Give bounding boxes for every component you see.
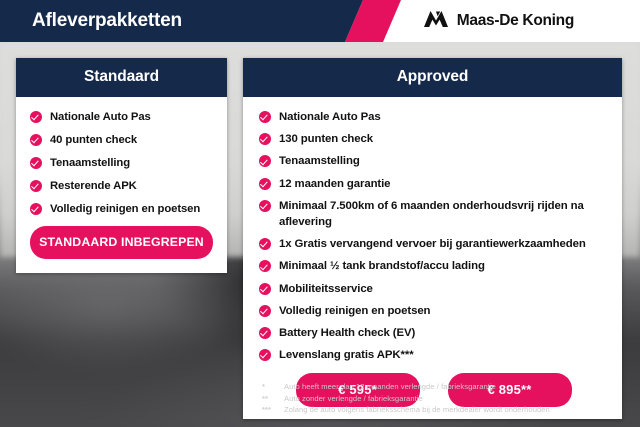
feature-label: 130 punten check xyxy=(279,131,608,147)
list-item: Tenaamstelling xyxy=(30,155,213,171)
feature-label: Minimaal ½ tank brandstof/accu lading xyxy=(279,258,608,274)
feature-label: Tenaamstelling xyxy=(279,153,608,169)
footnote-marker: * xyxy=(262,381,284,393)
feature-label: Mobiliteitsservice xyxy=(279,281,608,297)
check-circle-icon xyxy=(30,111,42,123)
check-circle-icon xyxy=(259,327,271,339)
list-item: Volledig reinigen en poetsen xyxy=(30,201,213,217)
check-circle-icon xyxy=(259,305,271,317)
check-circle-icon xyxy=(259,133,271,145)
brand-lockup: Maas-De Koning xyxy=(423,0,574,42)
list-item: 130 punten check xyxy=(259,131,608,147)
feature-label: Battery Health check (EV) xyxy=(279,325,608,341)
list-item: Minimaal 7.500km of 6 maanden onderhouds… xyxy=(259,198,608,230)
list-item: Nationale Auto Pas xyxy=(259,109,608,125)
standard-package-card: Standaard Nationale Auto Pas 40 punten c… xyxy=(16,58,227,273)
footnote-row: ** Auto zonder verlengde / fabrieksgaran… xyxy=(262,393,632,405)
list-item: Resterende APK xyxy=(30,178,213,194)
footnote-marker: ** xyxy=(262,393,284,405)
footnote-row: *** Zolang de auto volgens fabrieksschem… xyxy=(262,404,632,416)
footnote-text: Auto heeft meer dan 12 maanden verlengde… xyxy=(284,381,632,393)
feature-label: Resterende APK xyxy=(50,178,213,194)
standard-card-body: Nationale Auto Pas 40 punten check Tenaa… xyxy=(16,97,227,273)
footnote-text: Auto zonder verlengde / fabrieksgarantie xyxy=(284,393,632,405)
check-circle-icon xyxy=(30,157,42,169)
approved-card-body: Nationale Auto Pas 130 punten check Tena… xyxy=(243,97,622,419)
list-item: Volledig reinigen en poetsen xyxy=(259,303,608,319)
standard-card-heading: Standaard xyxy=(16,58,227,97)
feature-label: Levenslang gratis APK*** xyxy=(279,347,608,363)
check-circle-icon xyxy=(259,155,271,167)
footnotes-block: * Auto heeft meer dan 12 maanden verleng… xyxy=(262,381,632,416)
feature-label: Volledig reinigen en poetsen xyxy=(279,303,608,319)
page-title: Afleverpakketten xyxy=(32,0,182,42)
list-item: Minimaal ½ tank brandstof/accu lading xyxy=(259,258,608,274)
check-circle-icon xyxy=(259,111,271,123)
maas-de-koning-logo-icon xyxy=(423,9,449,34)
check-circle-icon xyxy=(259,200,271,212)
brand-name: Maas-De Koning xyxy=(457,12,574,30)
list-item: Battery Health check (EV) xyxy=(259,325,608,341)
list-item: 1x Gratis vervangend vervoer bij garanti… xyxy=(259,236,608,252)
feature-label: 40 punten check xyxy=(50,132,213,148)
footnote-text: Zolang de auto volgens fabrieksschema bi… xyxy=(284,404,632,416)
list-item: 40 punten check xyxy=(30,132,213,148)
feature-label: 1x Gratis vervangend vervoer bij garanti… xyxy=(279,236,608,252)
list-item: Mobiliteitsservice xyxy=(259,281,608,297)
check-circle-icon xyxy=(259,178,271,190)
feature-label: Minimaal 7.500km of 6 maanden onderhouds… xyxy=(279,198,608,230)
list-item: Tenaamstelling xyxy=(259,153,608,169)
check-circle-icon xyxy=(259,283,271,295)
list-item: 12 maanden garantie xyxy=(259,176,608,192)
afleverpakketten-slide: Afleverpakketten Maas-De Koning Standaar… xyxy=(0,0,640,427)
standard-feature-list: Nationale Auto Pas 40 punten check Tenaa… xyxy=(30,109,213,217)
check-circle-icon xyxy=(259,260,271,272)
approved-feature-list: Nationale Auto Pas 130 punten check Tena… xyxy=(259,109,608,363)
footnote-marker: *** xyxy=(262,404,284,416)
page-header: Afleverpakketten Maas-De Koning xyxy=(0,0,640,42)
list-item: Nationale Auto Pas xyxy=(30,109,213,125)
check-circle-icon xyxy=(259,349,271,361)
feature-label: Volledig reinigen en poetsen xyxy=(50,201,213,217)
approved-package-card: Approved Nationale Auto Pas 130 punten c… xyxy=(243,58,622,419)
check-circle-icon xyxy=(30,180,42,192)
list-item: Levenslang gratis APK*** xyxy=(259,347,608,363)
feature-label: 12 maanden garantie xyxy=(279,176,608,192)
approved-card-heading: Approved xyxy=(243,58,622,97)
check-circle-icon xyxy=(259,238,271,250)
feature-label: Tenaamstelling xyxy=(50,155,213,171)
standard-included-button[interactable]: STANDAARD INBEGREPEN xyxy=(30,226,213,259)
feature-label: Nationale Auto Pas xyxy=(279,109,608,125)
check-circle-icon xyxy=(30,134,42,146)
check-circle-icon xyxy=(30,203,42,215)
feature-label: Nationale Auto Pas xyxy=(50,109,213,125)
footnote-row: * Auto heeft meer dan 12 maanden verleng… xyxy=(262,381,632,393)
